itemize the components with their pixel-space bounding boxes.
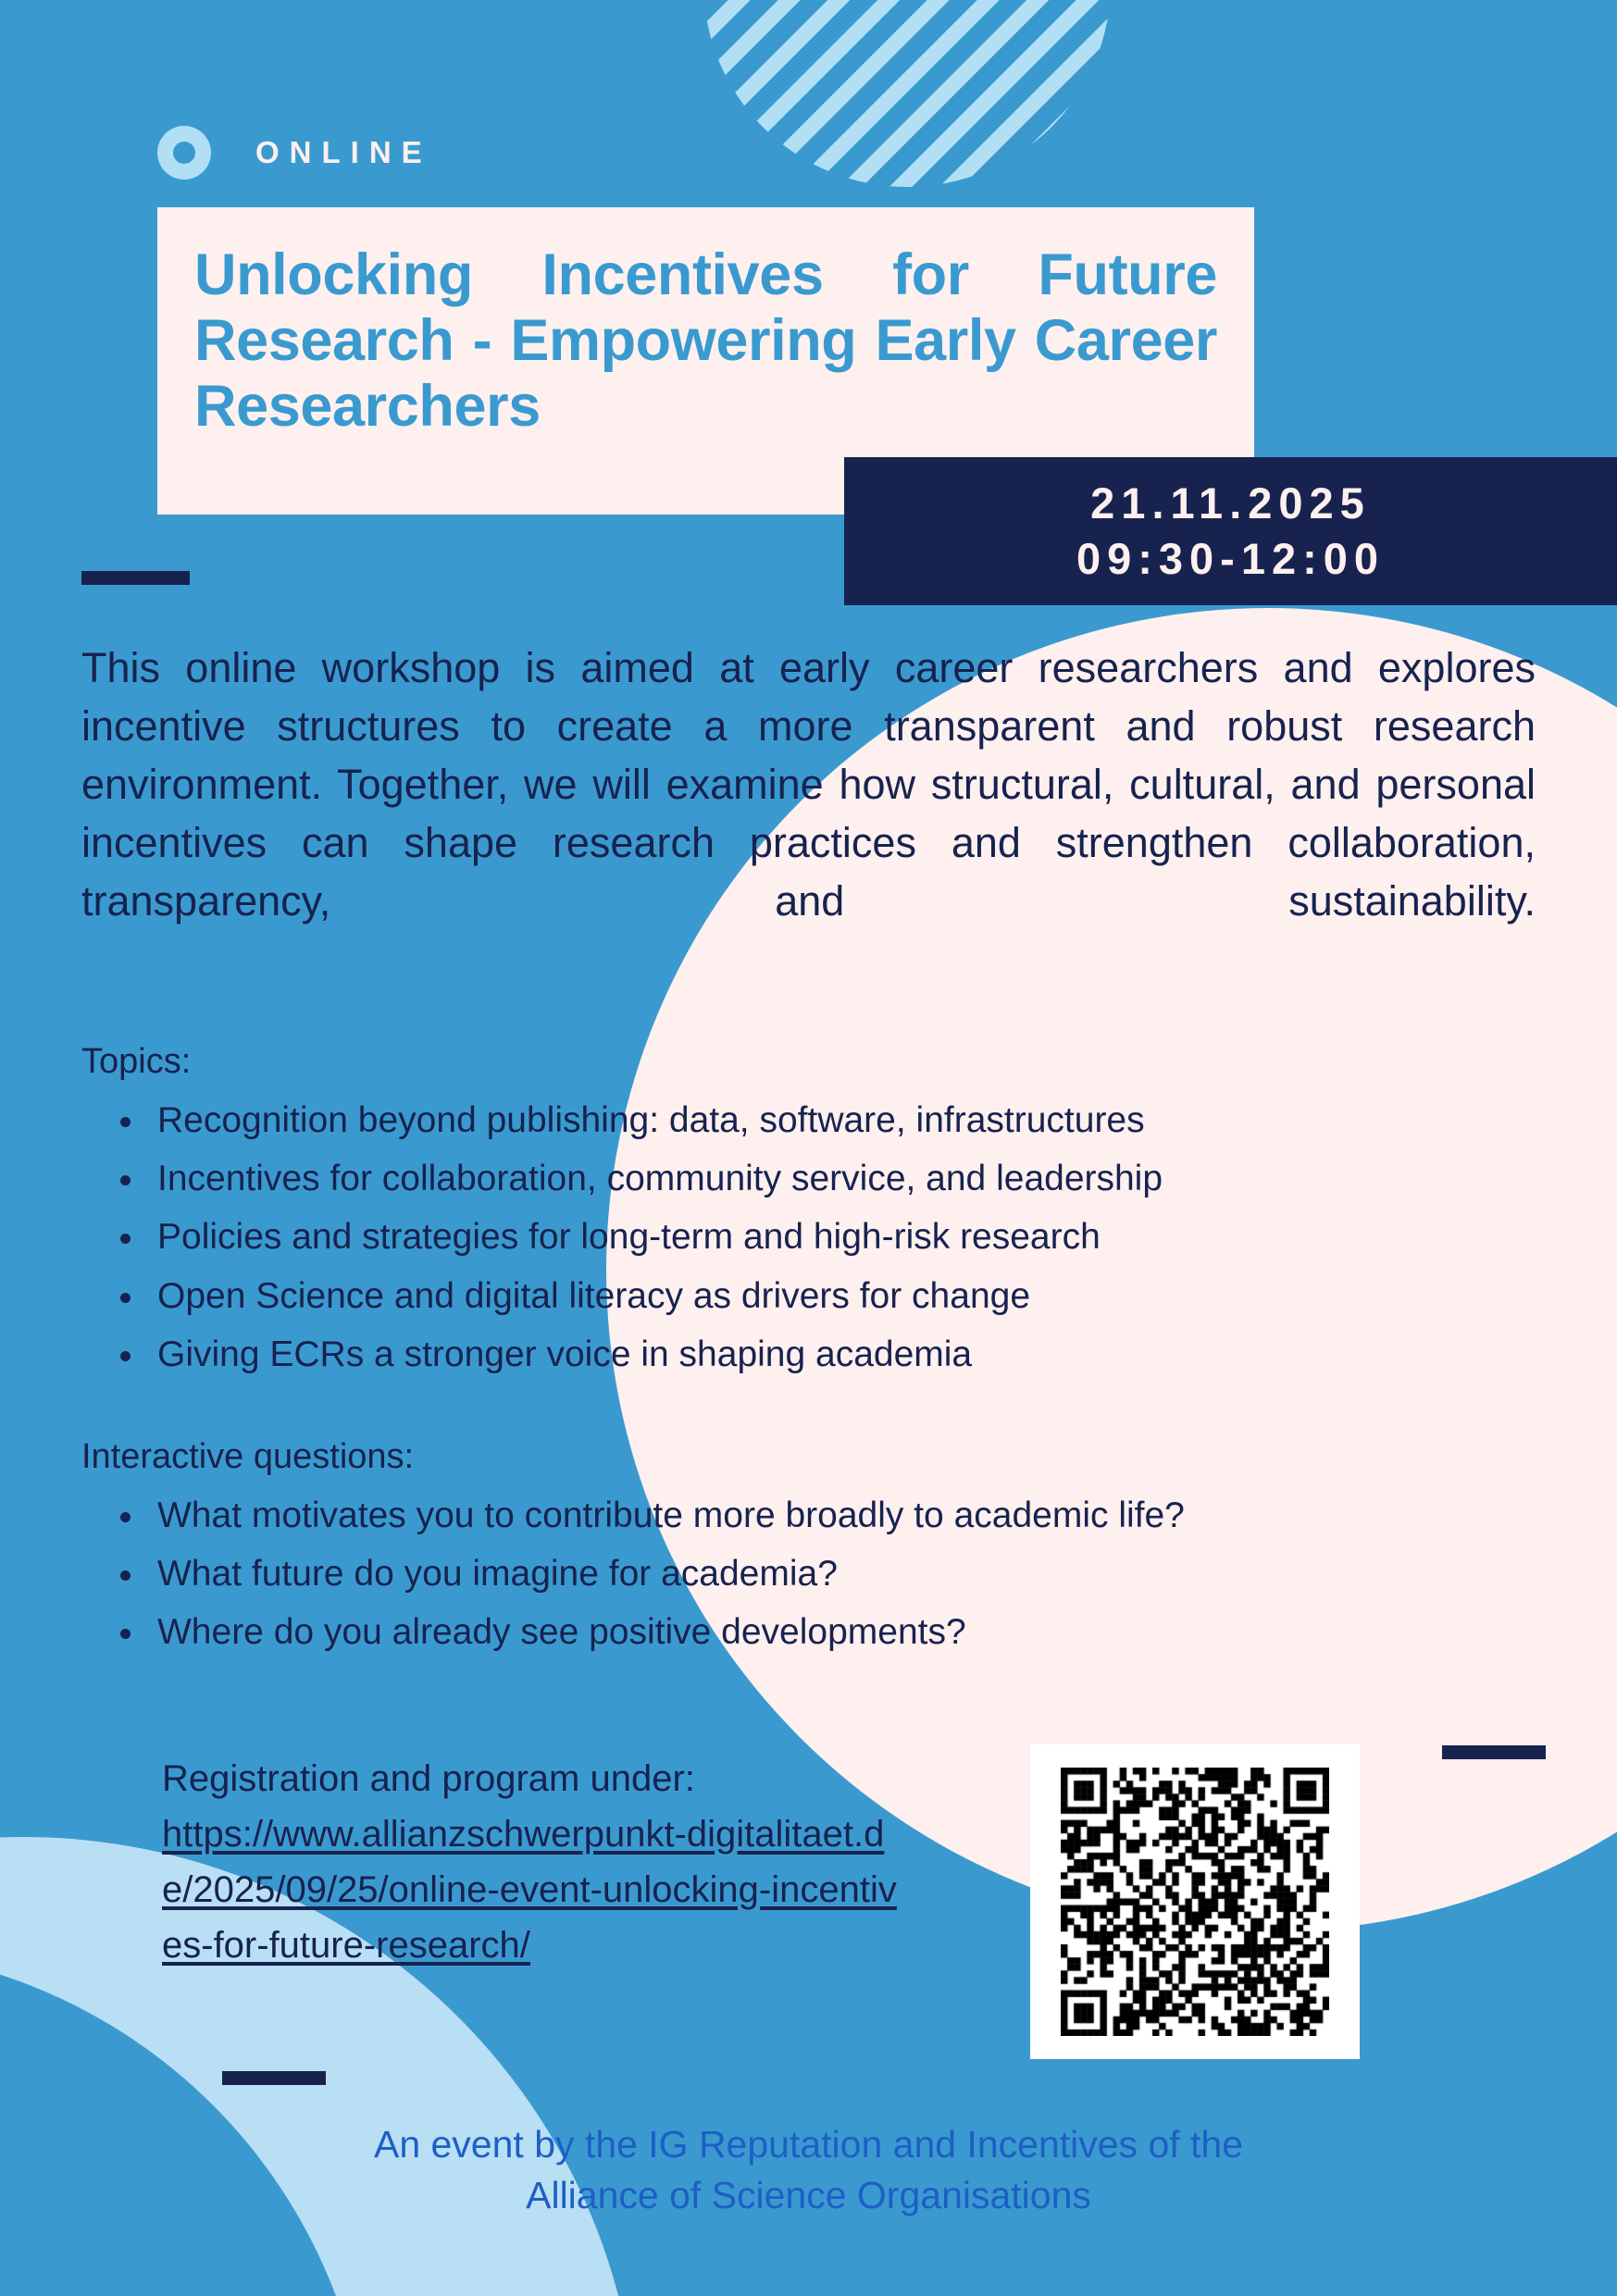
qr-code-icon[interactable] [1030, 1744, 1360, 2059]
footer-line-1: An event by the IG Reputation and Incent… [0, 2119, 1617, 2170]
online-badge-label: ONLINE [255, 135, 432, 170]
qr-code-canvas [1061, 1768, 1329, 2036]
questions-heading: Interactive questions: [81, 1432, 1536, 1483]
circle-ring-icon [157, 126, 211, 180]
intro-paragraph: This online workshop is aimed at early c… [81, 639, 1536, 988]
topic-list-item: Recognition beyond publishing: data, sof… [81, 1091, 1536, 1149]
event-poster: ONLINE Unlocking Incentives for Future R… [0, 0, 1617, 2296]
registration-label: Registration and program under: [162, 1758, 695, 1799]
poster-body: This online workshop is aimed at early c… [0, 639, 1617, 1662]
online-badge: ONLINE [157, 126, 432, 180]
dash-accent-left [81, 571, 190, 585]
question-list-item: What future do you imagine for academia? [81, 1545, 1536, 1603]
question-list-item: Where do you already see positive develo… [81, 1603, 1536, 1661]
footer-line-2: Alliance of Science Organisations [0, 2170, 1617, 2221]
topics-section: Topics: Recognition beyond publishing: d… [81, 1036, 1536, 1384]
registration-block: Registration and program under: https://… [162, 1751, 902, 1973]
registration-link[interactable]: https://www.allianzschwerpunkt-digitalit… [162, 1806, 902, 1973]
striped-circle-decoration [703, 0, 1111, 187]
event-time: 09:30-12:00 [1076, 531, 1385, 587]
topic-list-item: Giving ECRs a stronger voice in shaping … [81, 1325, 1536, 1384]
dash-accent-bottom [222, 2071, 326, 2085]
questions-list: What motivates you to contribute more br… [81, 1486, 1536, 1662]
footer-credit: An event by the IG Reputation and Incent… [0, 2119, 1617, 2222]
topics-heading: Topics: [81, 1036, 1536, 1087]
topic-list-item: Policies and strategies for long-term an… [81, 1208, 1536, 1266]
topic-list-item: Incentives for collaboration, community … [81, 1149, 1536, 1208]
event-date: 21.11.2025 [1090, 476, 1371, 531]
topic-list-item: Open Science and digital literacy as dri… [81, 1267, 1536, 1325]
questions-section: Interactive questions: What motivates yo… [81, 1432, 1536, 1662]
question-list-item: What motivates you to contribute more br… [81, 1486, 1536, 1545]
date-time-badge: 21.11.2025 09:30-12:00 [844, 457, 1617, 605]
topics-list: Recognition beyond publishing: data, sof… [81, 1091, 1536, 1384]
dash-accent-right [1442, 1745, 1546, 1759]
